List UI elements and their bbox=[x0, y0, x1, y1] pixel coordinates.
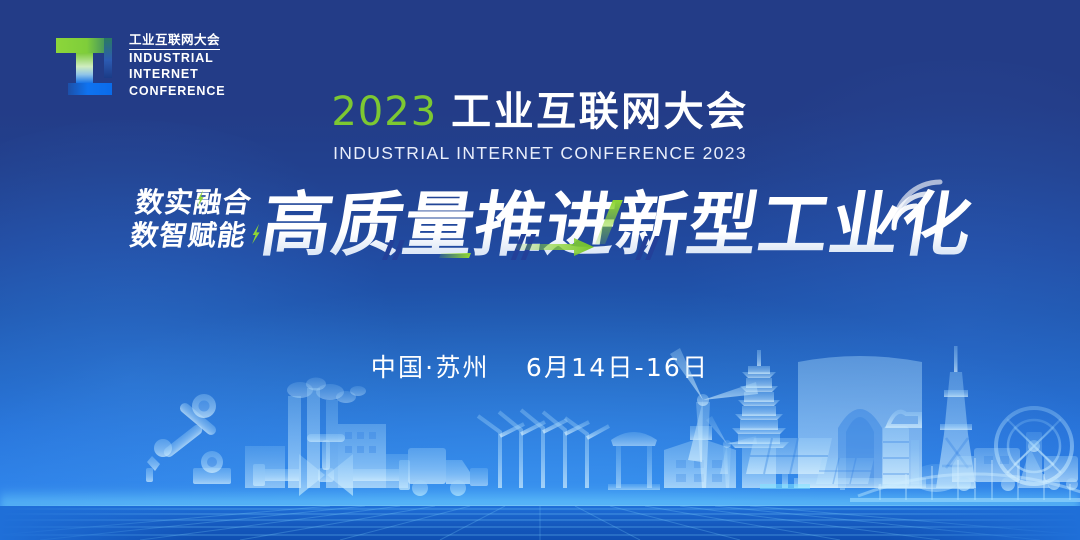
headline-kicker-text-1: 数实融合 bbox=[133, 186, 254, 219]
logo-wordmark: 工业互联网大会 INDUSTRIAL INTERNET CONFERENCE bbox=[129, 29, 226, 99]
title-main-row: 2023 工业互联网大会 bbox=[0, 92, 1080, 132]
wind-turbine-icon-large bbox=[670, 348, 758, 488]
logo-cn-name: 工业互联网大会 bbox=[129, 32, 220, 50]
robot-arm-icon bbox=[146, 394, 231, 484]
headline-kicker-line-1: 数实融合 bbox=[133, 186, 276, 219]
headline-main-text: 高质量推进新型工业化 bbox=[255, 178, 980, 272]
logo-en-line-1: INDUSTRIAL bbox=[129, 51, 226, 67]
wind-turbine-icon-small bbox=[706, 416, 757, 488]
title-cn-name: 工业互联网大会 bbox=[451, 92, 749, 132]
headline-kicker-text-2: 数智赋能 bbox=[128, 219, 249, 252]
logo-lockup: 工业互联网大会 INDUSTRIAL INTERNET CONFERENCE bbox=[56, 29, 226, 99]
wifi-signal-arcs-icon bbox=[884, 172, 946, 234]
factory-smokestacks-icon bbox=[245, 388, 408, 488]
conference-banner: 工业互联网大会 INDUSTRIAL INTERNET CONFERENCE 2… bbox=[0, 0, 1080, 540]
headline-kicker: 数实融合 数智赋能 bbox=[128, 186, 276, 252]
logo-en-line-2: INTERNET bbox=[129, 67, 226, 83]
grid-edge-fade bbox=[0, 506, 1080, 540]
title-subtitle: INDUSTRIAL INTERNET CONFERENCE 2023 bbox=[0, 143, 1080, 164]
headline-kicker-line-2: 数智赋能 bbox=[128, 219, 271, 252]
port-cranes-icon bbox=[478, 410, 609, 488]
title-year: 2023 bbox=[331, 92, 437, 132]
title-block: 2023 工业互联网大会 INDUSTRIAL INTERNET CONFERE… bbox=[0, 92, 1080, 164]
industrial-internet-conference-t-logo-icon bbox=[56, 29, 118, 95]
perspective-grid-floor bbox=[0, 506, 1080, 540]
